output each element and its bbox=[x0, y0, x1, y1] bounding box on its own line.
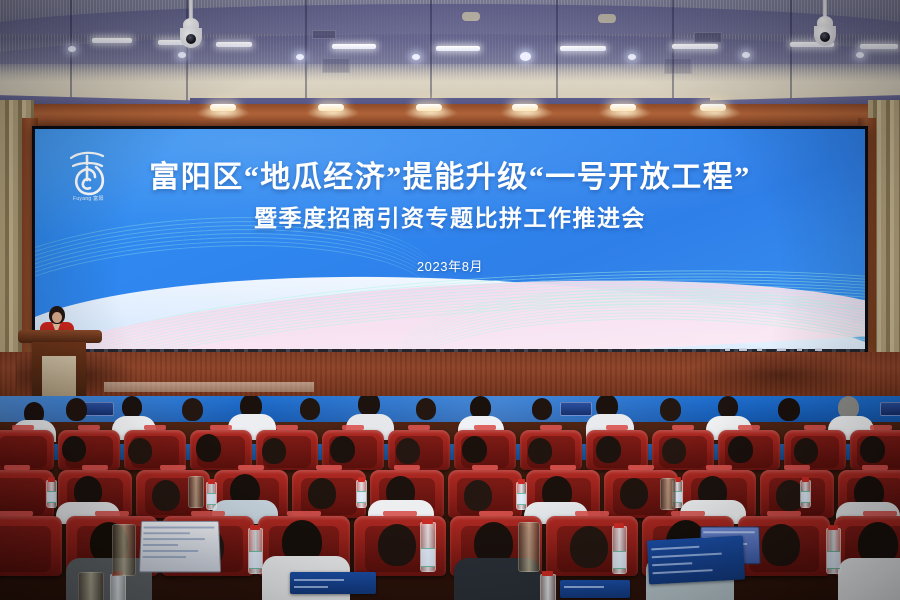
audience-head bbox=[416, 398, 436, 420]
ceiling-seam bbox=[186, 0, 188, 104]
stage-shadow bbox=[690, 352, 870, 398]
vacuum-tumbler[interactable] bbox=[518, 522, 540, 572]
podium bbox=[18, 330, 102, 404]
audience-head bbox=[396, 438, 420, 464]
ceiling-downlight bbox=[856, 52, 864, 58]
water-bottle[interactable] bbox=[540, 574, 556, 600]
audience-head bbox=[262, 438, 286, 464]
ceiling-downlight bbox=[296, 54, 304, 60]
ceiling-speaker-grille bbox=[598, 14, 616, 23]
blue-folder[interactable] bbox=[560, 580, 630, 598]
water-bottle[interactable] bbox=[46, 480, 57, 508]
ceiling-downlight bbox=[412, 54, 420, 60]
audience-head bbox=[662, 438, 686, 464]
audience-head bbox=[532, 398, 552, 420]
auditorium-seat[interactable] bbox=[0, 430, 54, 470]
audience-head bbox=[462, 436, 487, 463]
screen-title-line1: 富阳区“地瓜经济”提能升级“一号开放工程” bbox=[35, 163, 865, 193]
led-screen: Fuyang 富阳 富阳区“地瓜经济”提能升级“一号开放工程” 暨季度招商引资专… bbox=[35, 129, 865, 353]
audience-head bbox=[728, 436, 753, 463]
water-bottle[interactable] bbox=[826, 528, 841, 574]
audience-head bbox=[528, 438, 552, 464]
ceiling-downlight bbox=[628, 54, 636, 60]
vacuum-tumbler[interactable] bbox=[112, 524, 136, 576]
water-bottle[interactable] bbox=[206, 482, 217, 510]
audience-head bbox=[300, 398, 320, 420]
ceiling-tube-light bbox=[560, 46, 606, 51]
water-bottle[interactable] bbox=[110, 574, 126, 600]
ceiling-downlight bbox=[178, 52, 186, 58]
table-name-plate bbox=[560, 402, 592, 416]
audience-shoulders bbox=[838, 558, 900, 600]
ceiling-vent bbox=[322, 58, 350, 73]
ceiling-vent bbox=[312, 30, 336, 39]
water-bottle[interactable] bbox=[612, 526, 627, 574]
ceiling-downlight bbox=[520, 52, 531, 61]
audience-head bbox=[330, 436, 355, 463]
blue-folder[interactable] bbox=[647, 536, 745, 585]
audience-head bbox=[860, 436, 885, 463]
vacuum-tumbler[interactable] bbox=[660, 478, 676, 510]
ceiling-tube-light bbox=[332, 44, 376, 49]
audience-head bbox=[794, 438, 818, 464]
led-screen-bezel: Fuyang 富阳 富阳区“地瓜经济”提能升级“一号开放工程” 暨季度招商引资专… bbox=[32, 126, 868, 356]
audience-head bbox=[182, 398, 203, 421]
audience-head bbox=[196, 434, 221, 462]
water-bottle[interactable] bbox=[248, 528, 263, 574]
conference-hall-photo: Fuyang 富阳 富阳区“地瓜经济”提能升级“一号开放工程” 暨季度招商引资专… bbox=[0, 0, 900, 600]
ceiling-downlight bbox=[68, 46, 76, 52]
ceiling bbox=[0, 0, 900, 104]
audience-head bbox=[596, 436, 621, 463]
screen-title-line2: 暨季度招商引资专题比拼工作推进会 bbox=[35, 207, 865, 230]
ceiling-tube-light bbox=[92, 38, 132, 43]
audience-head bbox=[660, 398, 681, 421]
laptop[interactable] bbox=[139, 521, 219, 571]
ceiling-speaker-grille bbox=[462, 12, 480, 21]
audience-head bbox=[378, 524, 416, 566]
audience-head bbox=[122, 396, 142, 418]
screen-title-block: 富阳区“地瓜经济”提能升级“一号开放工程” 暨季度招商引资专题比拼工作推进会 2… bbox=[35, 163, 865, 275]
audience-area bbox=[0, 396, 900, 600]
ceiling-tube-light bbox=[216, 42, 252, 47]
table-name-plate bbox=[880, 402, 900, 416]
vacuum-tumbler[interactable] bbox=[78, 572, 104, 600]
ceiling-seam bbox=[305, 0, 307, 104]
audience-head bbox=[62, 436, 86, 462]
auditorium-seat[interactable] bbox=[0, 516, 62, 576]
water-bottle[interactable] bbox=[800, 480, 811, 508]
ceiling-vent bbox=[664, 58, 692, 74]
audience-head bbox=[128, 438, 152, 464]
ceiling-downlight bbox=[742, 52, 750, 58]
audience-head bbox=[152, 480, 180, 511]
ceiling-seam bbox=[672, 0, 674, 104]
audience-head bbox=[570, 526, 608, 568]
audience-head bbox=[778, 398, 800, 421]
ceiling-seam bbox=[70, 0, 72, 104]
ceiling-seam bbox=[556, 0, 558, 104]
ceiling-seam bbox=[430, 0, 432, 104]
audience-head bbox=[358, 396, 380, 416]
ceiling-tube-light bbox=[672, 44, 718, 49]
ceiling-tube-light bbox=[860, 44, 898, 49]
ceiling-vent bbox=[694, 32, 722, 43]
audience-head bbox=[308, 478, 336, 509]
audience-head bbox=[66, 398, 87, 421]
water-bottle[interactable] bbox=[516, 482, 527, 510]
audience-head bbox=[620, 478, 648, 509]
blue-folder[interactable] bbox=[290, 572, 376, 594]
audience-head bbox=[718, 396, 738, 418]
ceiling-seam bbox=[790, 0, 792, 104]
water-bottle[interactable] bbox=[356, 480, 367, 508]
audience-head bbox=[762, 524, 800, 566]
ceiling-tube-light bbox=[436, 46, 480, 51]
stage-desk-edge bbox=[104, 382, 314, 392]
vacuum-tumbler[interactable] bbox=[188, 476, 204, 508]
water-bottle[interactable] bbox=[420, 522, 436, 572]
audience-head bbox=[464, 480, 492, 511]
screen-date-line: 2023年8月 bbox=[35, 256, 865, 275]
